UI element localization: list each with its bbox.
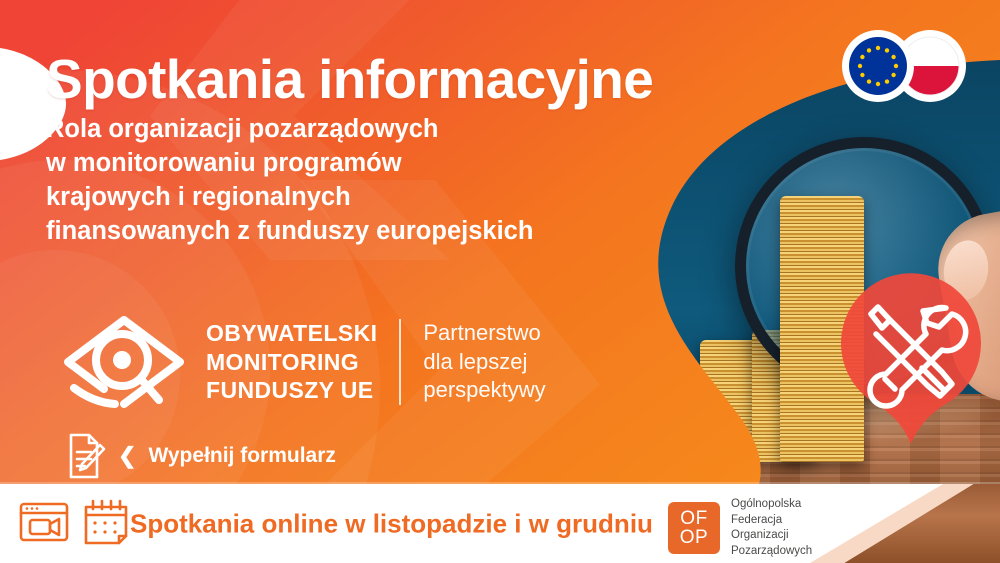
fill-form-label: Wypełnij formularz	[148, 444, 335, 468]
tagline-line-1: Partnerstwo	[423, 319, 545, 348]
brand-divider	[399, 319, 401, 405]
subtitle-line-2: w monitorowaniu programów	[46, 146, 606, 180]
flags-group	[832, 28, 980, 104]
bottom-bar-text: Spotkania online w listopadzie i w grudn…	[130, 508, 653, 539]
ofop-name: Ogólnopolska Federacja Organizacji Pozar…	[731, 497, 812, 560]
brand-name-line-2: MONITORING	[206, 348, 377, 377]
subtitle-line-4: finansowanych z funduszy europejskich	[46, 214, 606, 248]
bottom-bar-icons	[18, 498, 130, 546]
subtitle-block: Rola organizacji pozarządowych w monitor…	[46, 112, 606, 249]
page-title: Spotkania informacyjne	[46, 51, 653, 109]
brand-name-line-3: FUNDUSZY UE	[206, 376, 377, 405]
brand-text-group: OBYWATELSKI MONITORING FUNDUSZY UE Partn…	[206, 319, 546, 406]
tagline-line-3: perspektywy	[423, 376, 545, 405]
brand-lockup: OBYWATELSKI MONITORING FUNDUSZY UE Partn…	[60, 310, 546, 414]
eye-magnifier-icon	[60, 310, 188, 414]
brand-name-line-1: OBYWATELSKI	[206, 319, 377, 348]
eu-flag-icon	[842, 30, 914, 102]
bottom-bar: Spotkania online w listopadzie i w grudn…	[0, 484, 1000, 563]
chevron-left-icon: ❮	[118, 445, 136, 467]
ofop-logo: OF OP Ogólnopolska Federacja Organizacji…	[668, 497, 812, 560]
ofop-mark: OF OP	[668, 502, 720, 554]
ofop-name-line-2: Federacja	[731, 513, 812, 529]
ofop-name-line-3: Organizacji	[731, 528, 812, 544]
calendar-icon	[82, 498, 130, 546]
ofop-mark-line-2: OP	[680, 528, 708, 547]
subtitle-line-1: Rola organizacji pozarządowych	[46, 112, 606, 146]
fill-form-cta[interactable]: ❮ Wypełnij formularz	[62, 432, 336, 480]
subtitle-line-3: krajowych i regionalnych	[46, 180, 606, 214]
tagline-line-2: dla lepszej	[423, 348, 545, 377]
brand-name: OBYWATELSKI MONITORING FUNDUSZY UE	[206, 319, 377, 406]
map-pin-shape	[841, 273, 981, 444]
ofop-name-line-4: Pozarządowych	[731, 544, 812, 560]
promo-banner: Spotkania informacyjne Rola organizacji …	[0, 0, 1000, 563]
ofop-mark-line-1: OF	[680, 509, 707, 528]
form-pencil-icon	[62, 432, 106, 480]
online-meeting-video-icon	[18, 498, 70, 546]
ofop-name-line-1: Ogólnopolska	[731, 497, 812, 513]
brand-tagline: Partnerstwo dla lepszej perspektywy	[423, 319, 545, 405]
tools-pin-badge	[838, 272, 984, 444]
